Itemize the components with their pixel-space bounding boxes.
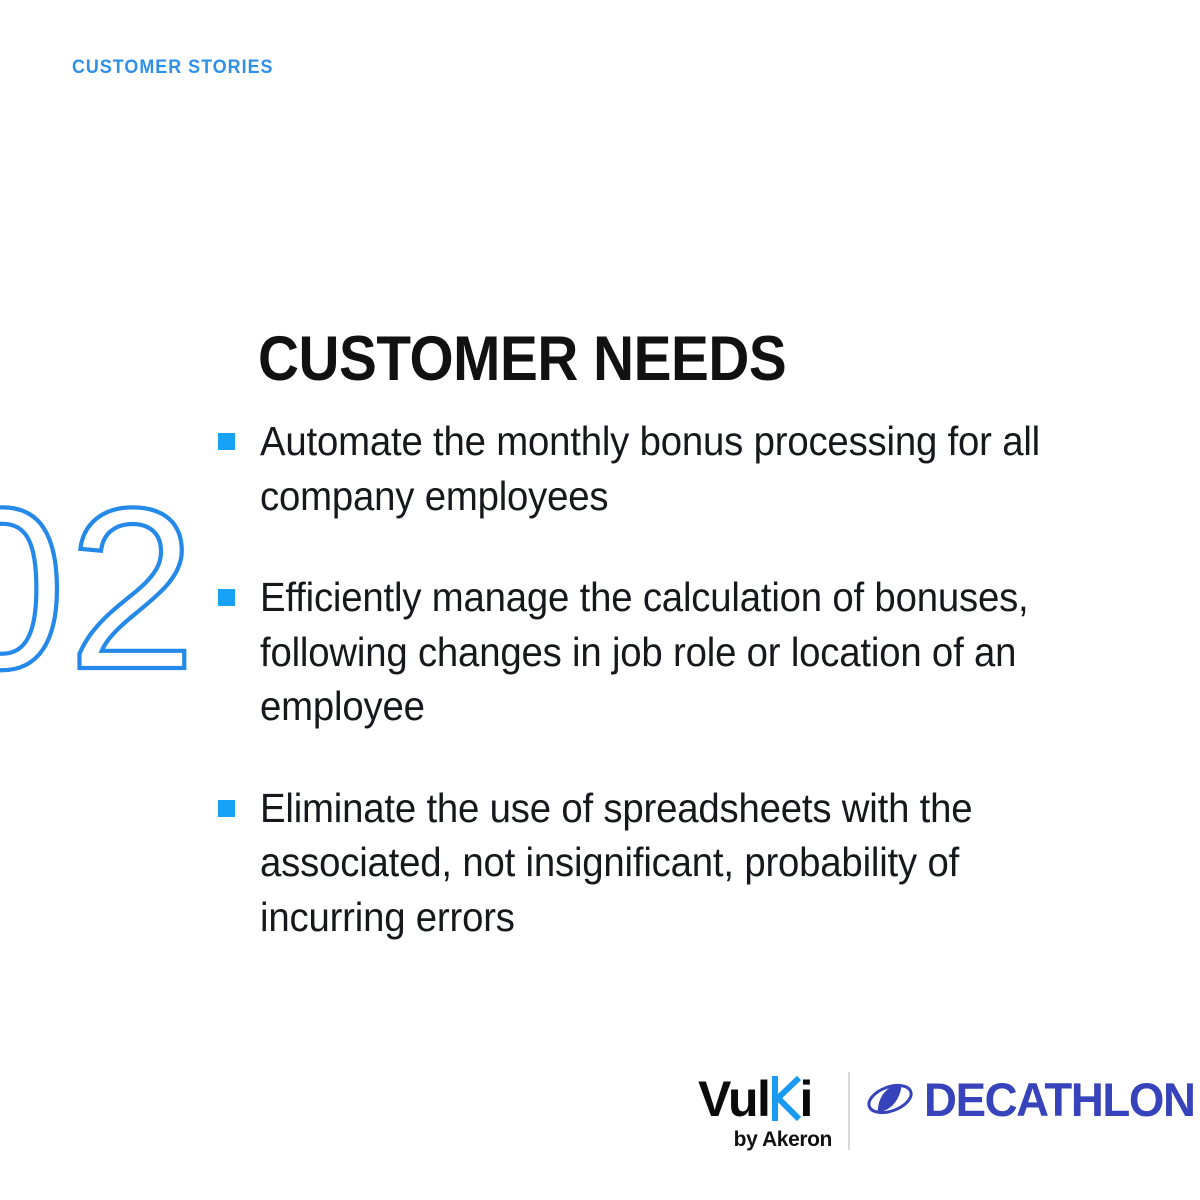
step-number-graphic: 02 bbox=[0, 498, 188, 683]
list-item-text: Efficiently manage the calculation of bo… bbox=[260, 570, 1073, 734]
slide-canvas: CUSTOMER STORIES 02 CUSTOMER NEEDS Autom… bbox=[0, 0, 1200, 1200]
vulki-stylized-k-icon bbox=[772, 1076, 802, 1121]
vulki-tagline: by Akeron bbox=[698, 1128, 834, 1152]
vulki-word-prefix: Vul bbox=[698, 1074, 769, 1124]
kicker-label: CUSTOMER STORIES bbox=[72, 57, 273, 79]
decathlon-logo: DECATHLON bbox=[866, 1072, 1200, 1126]
vulki-logo: Vul i by Akeron bbox=[698, 1072, 848, 1152]
bullet-square-icon bbox=[218, 800, 235, 817]
page-title: CUSTOMER NEEDS bbox=[258, 327, 786, 393]
bullet-square-icon bbox=[218, 433, 235, 450]
customer-needs-list: Automate the monthly bonus processing fo… bbox=[218, 414, 1130, 944]
list-item: Automate the monthly bonus processing fo… bbox=[218, 414, 1130, 523]
list-item: Eliminate the use of spreadsheets with t… bbox=[218, 781, 1130, 945]
list-item-text: Automate the monthly bonus processing fo… bbox=[260, 414, 1073, 523]
list-item-text: Eliminate the use of spreadsheets with t… bbox=[260, 781, 1073, 945]
decathlon-ellipse-icon bbox=[866, 1081, 914, 1117]
list-item: Efficiently manage the calculation of bo… bbox=[218, 570, 1130, 734]
bullet-square-icon bbox=[218, 589, 235, 606]
decathlon-wordmark: DECATHLON bbox=[924, 1076, 1195, 1123]
logo-divider bbox=[848, 1072, 850, 1150]
step-number-text: 02 bbox=[0, 460, 198, 717]
vulki-wordmark: Vul i bbox=[698, 1072, 834, 1126]
footer-logo-lockup: Vul i by Akeron bbox=[698, 1072, 1200, 1162]
